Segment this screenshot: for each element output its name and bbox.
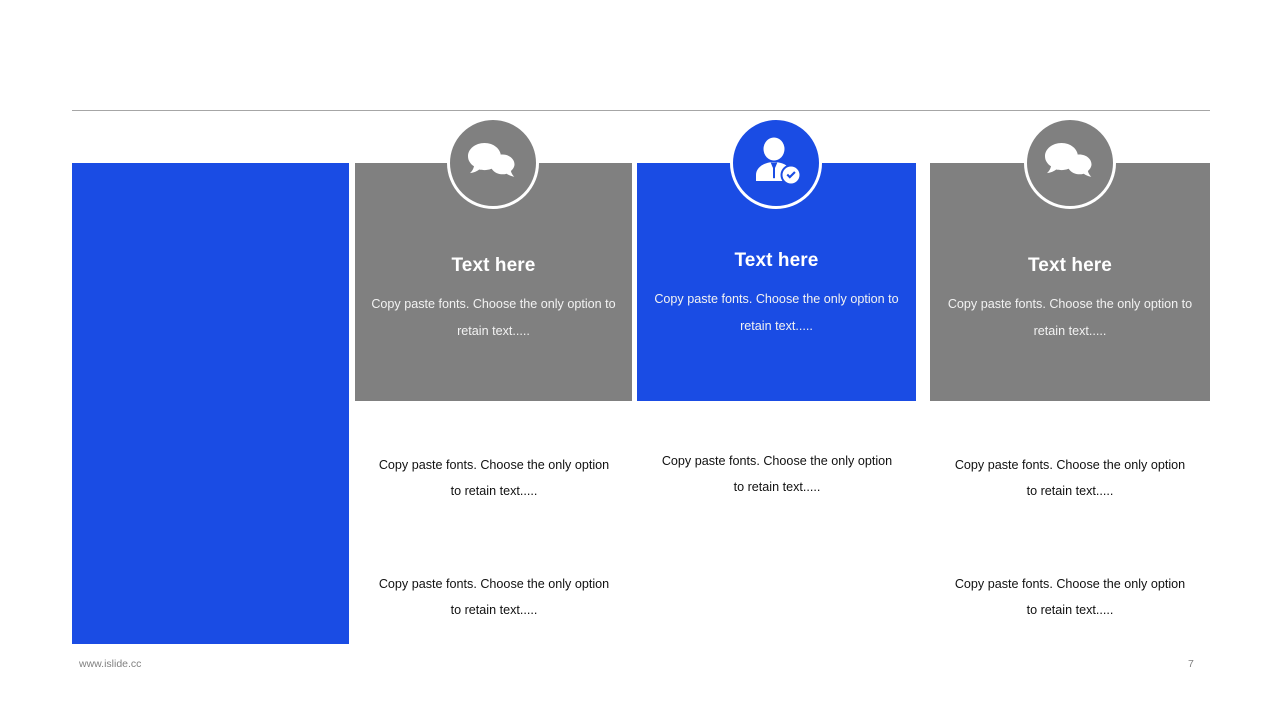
card-title-2: Text here [637, 250, 916, 272]
footer-url[interactable]: www.islide.cc [79, 658, 141, 670]
paragraph-col1-row2: Copy paste fonts. Choose the only option… [376, 571, 612, 623]
paragraph-col3-row1: Copy paste fonts. Choose the only option… [952, 452, 1188, 504]
slide-canvas: Text here Copy paste fonts. Choose the o… [0, 0, 1280, 720]
paragraph-col3-row2: Copy paste fonts. Choose the only option… [952, 571, 1188, 623]
card-title-3: Text here [930, 255, 1210, 277]
speech-bubbles-icon [447, 117, 539, 209]
card-body-1: Copy paste fonts. Choose the only option… [369, 291, 618, 345]
card-title-1: Text here [355, 255, 632, 277]
paragraph-col2-row1: Copy paste fonts. Choose the only option… [659, 448, 895, 500]
page-number: 7 [1188, 658, 1194, 670]
card-body-2: Copy paste fonts. Choose the only option… [651, 286, 902, 340]
speech-bubbles-icon [1024, 117, 1116, 209]
verified-user-icon [730, 117, 822, 209]
paragraph-col1-row1: Copy paste fonts. Choose the only option… [376, 452, 612, 504]
card-body-3: Copy paste fonts. Choose the only option… [944, 291, 1196, 345]
